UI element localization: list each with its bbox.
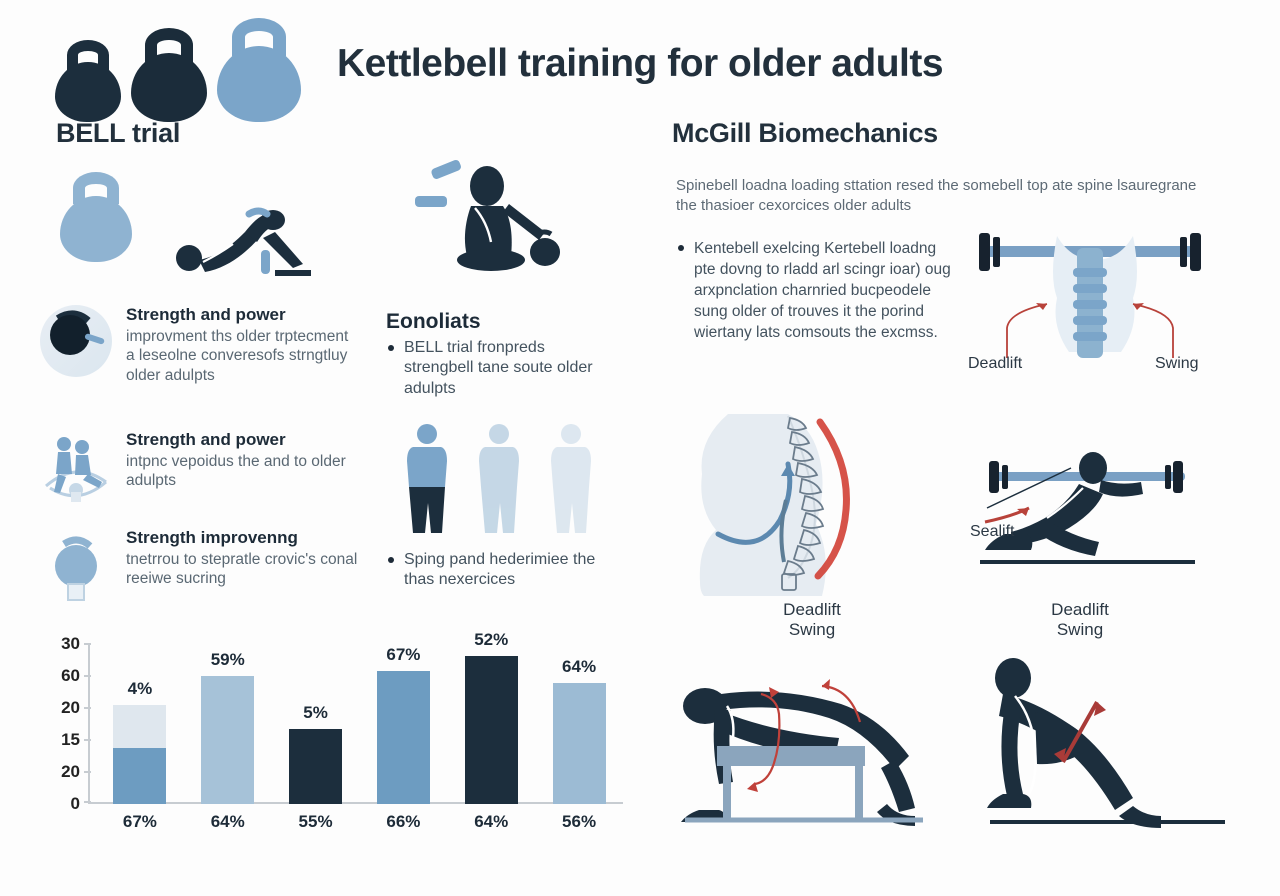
chart-category-label: 64% [184,812,272,832]
chart-category-label: 67% [96,812,184,832]
bar-chart: 30 60 20 15 20 0 4%59%5%67%52%64% 67%64%… [40,636,640,836]
chart-bar [113,705,166,804]
plank-bench-figure-diagram [665,650,955,840]
feature-item-1: Strength and power improvment ths older … [40,305,360,386]
caption-line-1: Deadlift [712,600,912,620]
caption-line-2: Swing [980,620,1180,640]
chart-bar-column: 67% [359,644,447,804]
y-tick-label: 30 [61,634,80,654]
chart-bar-segment [553,683,606,804]
feature-body: intpnc vepoidus the and to older adulpts [126,452,360,492]
caption-barbell-lift: Deadlift Swing [980,600,1180,640]
chart-bar-segment [201,676,254,804]
y-tick-label: 20 [61,698,80,718]
section-heading-bell-trial: BELL trial [56,118,180,149]
chart-bar-segment [377,671,430,804]
chart-bar-value-label: 4% [128,679,153,699]
chart-bar-segment [465,656,518,804]
header-kettlebell-row [55,18,301,122]
label-sealift: Sealift [970,523,1014,541]
list-item: Kentebell exelcing Kertebell loadng pte … [676,238,956,343]
kettlebell-dark-small-icon [55,40,121,122]
chart-bar [289,729,342,804]
page-title: Kettlebell training for older adults [337,42,943,86]
middle-bullets-bottom: Sping pand hederimiee the thas nexercice… [386,550,626,597]
chart-bar-value-label: 67% [386,645,420,665]
kettlebell-circle-icon [40,305,112,377]
chart-x-labels: 67%64%55%66%64%56% [96,812,623,832]
feature-item-3: Strength improvenng tnetrrou to stepratl… [40,528,360,600]
list-item: BELL trial fronpreds strengbell tane sou… [386,338,616,399]
chart-y-axis-line [88,644,90,804]
person-lying-press-icon [175,198,315,278]
chart-bar-value-label: 52% [474,630,508,650]
feature-title: Strength and power [126,305,360,325]
chart-bar-value-label: 64% [562,657,596,677]
chart-bar-column: 52% [447,644,535,804]
chart-bar-column: 5% [272,644,360,804]
person-silhouette-faint-icon [548,423,594,533]
right-bullets: Kentebell exelcing Kertebell loadng pte … [676,238,956,343]
y-tick-label: 20 [61,762,80,782]
caption-spine-curve: Deadlift Swing [712,600,912,640]
spine-curve-lateral-diagram [692,412,912,597]
right-subtitle: Spinebell loadna loading sttation resed … [676,176,1204,216]
person-silhouette-mid-icon [476,423,522,533]
feature-title: Strength and power [126,430,360,450]
kettlebell-light-large-icon [217,18,301,122]
people-exercise-icon [40,430,112,502]
label-deadlift-front: Deadlift [968,355,1022,373]
kettlebell-stand-icon [40,528,112,600]
section-heading-mcgill: McGill Biomechanics [672,118,938,149]
feature-item-2: Strength and power intpnc vepoidus the a… [40,430,360,502]
feature-body: tnetrrou to stepratle crovic's conal ree… [126,550,360,590]
chart-bar [201,676,254,804]
list-item: Sping pand hederimiee the thas nexercice… [386,550,626,591]
chart-category-label: 64% [447,812,535,832]
chart-bar-value-label: 59% [211,650,245,670]
hinge-stretch-figure-diagram [985,650,1245,840]
people-silhouette-row [404,423,594,533]
chart-bars: 4%59%5%67%52%64% [96,644,623,804]
chart-category-label: 55% [272,812,360,832]
chart-bar [377,671,430,804]
barbell-lift-figure-diagram [975,450,1200,580]
chart-bar-segment-lower [113,748,166,804]
middle-heading: Eonoliats [386,310,481,334]
chart-bar-column: 64% [535,644,623,804]
kettlebell-dark-medium-icon [131,28,207,122]
person-seated-kettlebell-icon [415,160,575,280]
y-tick-label: 60 [61,666,80,686]
infographic-page: Kettlebell training for older adults BEL… [0,0,1280,896]
chart-y-axis: 30 60 20 15 20 0 [40,644,80,804]
chart-category-label: 66% [359,812,447,832]
label-swing-front: Swing [1155,355,1199,373]
chart-bar-segment-upper [113,705,166,749]
chart-bar-segment [289,729,342,804]
person-silhouette-solid-icon [404,423,450,533]
chart-bar-column: 59% [184,644,272,804]
chart-bar [465,656,518,804]
middle-bullets-top: BELL trial fronpreds strengbell tane sou… [386,338,616,405]
bell-trial-kettlebell-icon [60,172,132,262]
feature-body: improvment ths older trptecment a leseol… [126,327,360,386]
chart-bar [553,683,606,804]
caption-line-2: Swing [712,620,912,640]
y-tick-label: 15 [61,730,80,750]
spine-barbell-front-diagram [965,228,1215,368]
chart-bar-column: 4% [96,644,184,804]
chart-bar-value-label: 5% [303,703,328,723]
caption-line-1: Deadlift [980,600,1180,620]
y-tick-label: 0 [71,794,80,814]
feature-title: Strength improvenng [126,528,360,548]
chart-category-label: 56% [535,812,623,832]
